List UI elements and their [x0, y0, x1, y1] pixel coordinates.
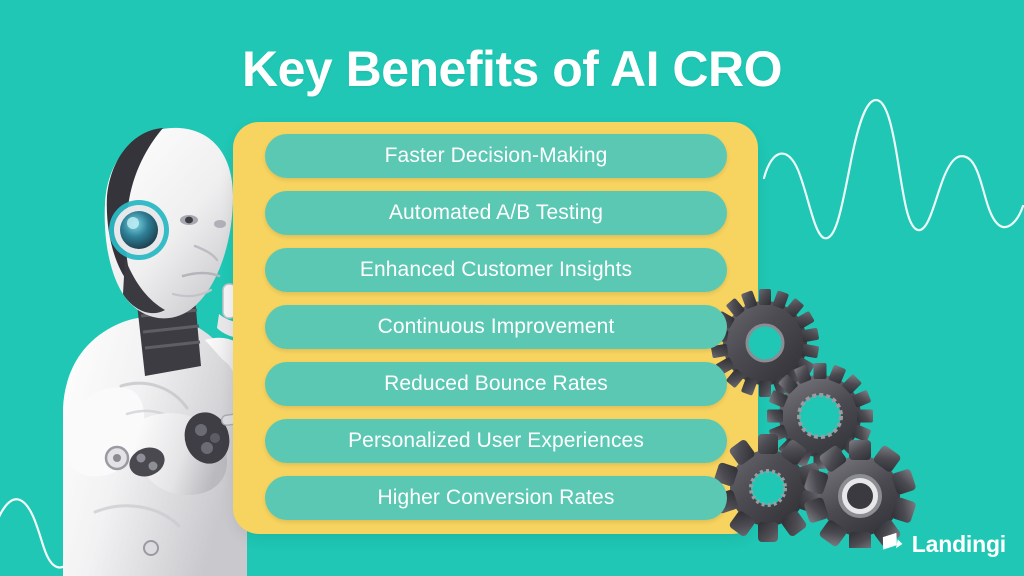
benefits-list: Faster Decision-Making Automated A/B Tes…: [265, 134, 727, 520]
robot-eye-sensor: [120, 211, 158, 249]
page-title: Key Benefits of AI CRO: [0, 42, 1024, 97]
landingi-logo[interactable]: Landingi: [877, 531, 1006, 558]
landingi-diamond-logo-icon: [877, 533, 903, 557]
benefit-pill[interactable]: Personalized User Experiences: [265, 419, 727, 463]
landingi-logo-text: Landingi: [912, 531, 1006, 558]
infographic-canvas: Key Benefits of AI CRO: [0, 0, 1024, 576]
benefit-pill[interactable]: Continuous Improvement: [265, 305, 727, 349]
benefit-pill[interactable]: Higher Conversion Rates: [265, 476, 727, 520]
gears-illustration: [710, 288, 925, 548]
benefit-pill[interactable]: Automated A/B Testing: [265, 191, 727, 235]
benefit-pill[interactable]: Faster Decision-Making: [265, 134, 727, 178]
benefit-pill[interactable]: Enhanced Customer Insights: [265, 248, 727, 292]
decorative-wave-top-right-icon: [762, 66, 1024, 296]
benefit-pill[interactable]: Reduced Bounce Rates: [265, 362, 727, 406]
